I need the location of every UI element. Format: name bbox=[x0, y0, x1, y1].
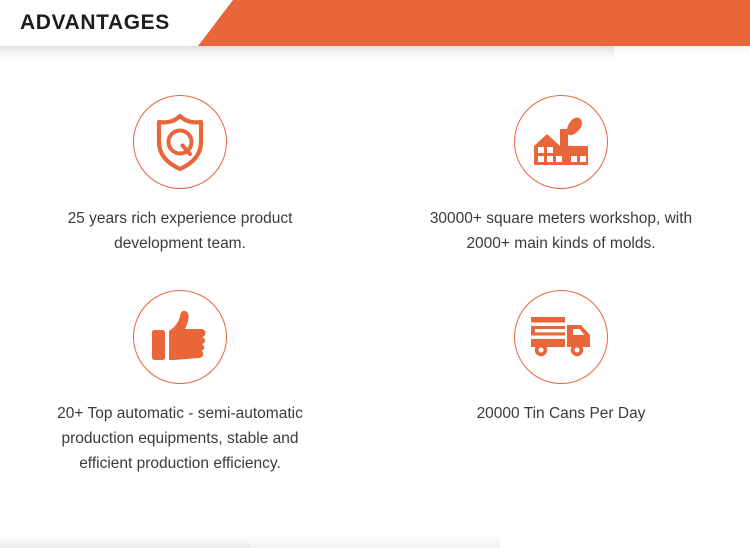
page-title: ADVANTAGES bbox=[20, 0, 170, 46]
factory-icon bbox=[530, 113, 592, 171]
advantage-item-quality: 25 years rich experience product develop… bbox=[0, 62, 360, 257]
advantage-text: 25 years rich experience product develop… bbox=[35, 206, 325, 256]
thumbs-up-icon bbox=[150, 308, 210, 366]
icon-circle bbox=[514, 95, 608, 189]
icon-circle bbox=[133, 290, 227, 384]
advantage-text: 20000 Tin Cans Per Day bbox=[406, 401, 716, 426]
bottom-fade bbox=[0, 534, 500, 548]
advantage-item-workshop: 30000+ square meters workshop, with 2000… bbox=[360, 62, 750, 257]
advantages-grid: 25 years rich experience product develop… bbox=[0, 62, 750, 452]
advantage-text: 20+ Top automatic - semi-automatic produ… bbox=[35, 401, 325, 476]
shield-quality-icon bbox=[151, 112, 209, 172]
header-shadow bbox=[0, 46, 614, 62]
bottom-fade-inner bbox=[0, 540, 250, 548]
advantage-text: 30000+ square meters workshop, with 2000… bbox=[406, 206, 716, 256]
icon-circle bbox=[514, 290, 608, 384]
advantage-item-capacity: 20000 Tin Cans Per Day bbox=[360, 257, 750, 452]
header-shadow-right bbox=[606, 46, 750, 56]
page-header: ADVANTAGES bbox=[0, 0, 750, 46]
delivery-truck-icon bbox=[529, 313, 593, 361]
icon-circle bbox=[133, 95, 227, 189]
advantage-item-equipment: 20+ Top automatic - semi-automatic produ… bbox=[0, 257, 360, 452]
